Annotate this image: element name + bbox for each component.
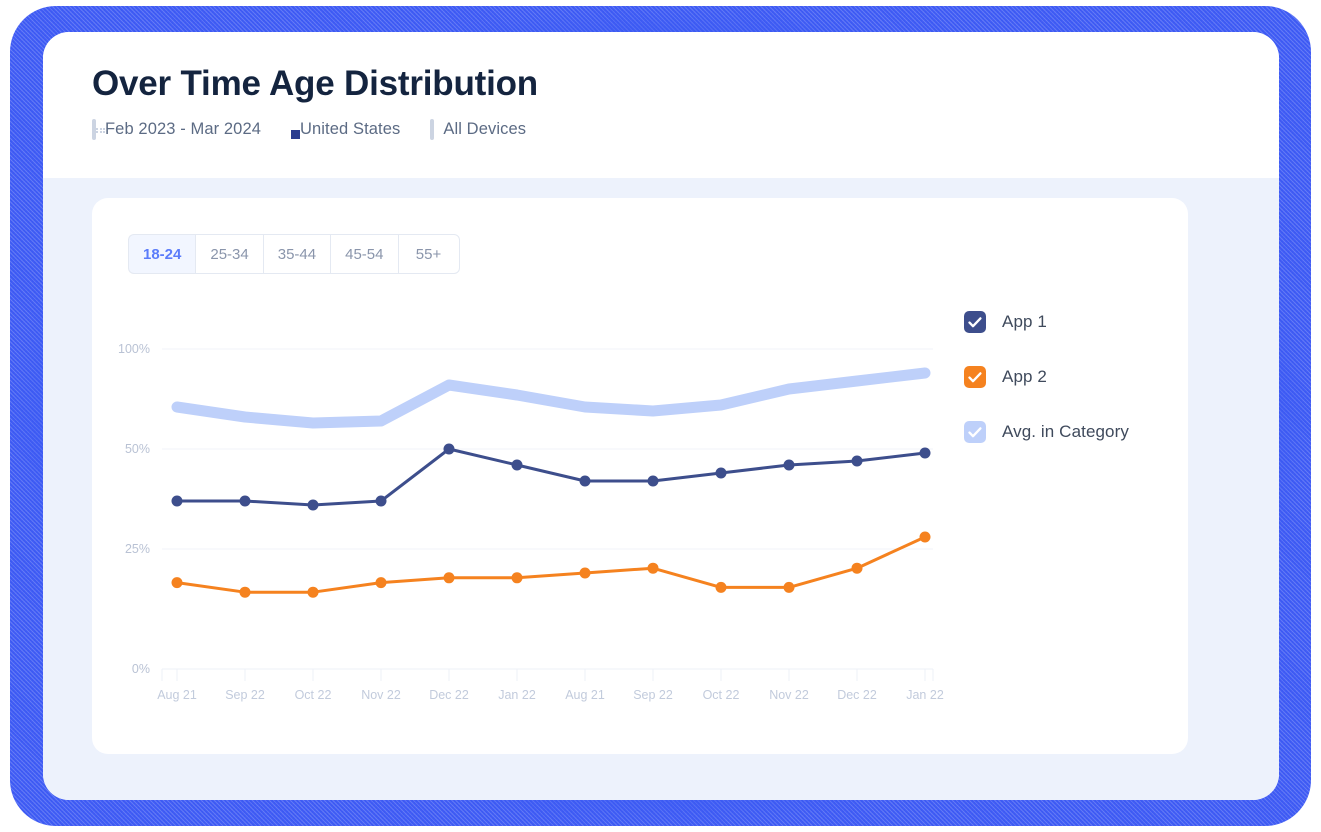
data-point[interactable] (172, 577, 183, 588)
x-axis-tick-label: Nov 22 (361, 688, 401, 702)
meta-country-label: United States (300, 120, 400, 139)
data-point[interactable] (784, 460, 795, 471)
legend-checkbox-app-2[interactable] (964, 366, 986, 388)
data-point[interactable] (512, 572, 523, 583)
legend-checkbox-avg-in-category[interactable] (964, 421, 986, 443)
series-line-app-2 (177, 537, 925, 592)
page-title: Over Time Age Distribution (92, 64, 1279, 104)
series-line-app-1 (177, 449, 925, 505)
x-axis-tick-label: Oct 22 (703, 688, 740, 702)
data-point[interactable] (852, 563, 863, 574)
x-axis-tick-label: Jan 22 (498, 688, 536, 702)
data-point[interactable] (580, 568, 591, 579)
y-axis-tick-label: 0% (132, 662, 150, 676)
series-line-avg-in-category (177, 373, 925, 423)
meta-country[interactable]: United States (291, 120, 400, 139)
x-axis-tick-label: Sep 22 (633, 688, 673, 702)
x-axis-tick-label: Nov 22 (769, 688, 809, 702)
meta-date-range-label: Feb 2023 - Mar 2024 (105, 120, 261, 139)
y-axis-tick-label: 25% (125, 542, 150, 556)
data-point[interactable] (240, 496, 251, 507)
x-axis-tick-label: Dec 22 (837, 688, 877, 702)
meta-row: Feb 2023 - Mar 2024 United States All De… (92, 120, 1279, 139)
data-point[interactable] (920, 448, 931, 459)
legend-item-app-2[interactable]: App 2 (964, 363, 1129, 391)
data-point[interactable] (444, 572, 455, 583)
app-frame: Over Time Age Distribution Feb 2023 - Ma… (0, 0, 1321, 832)
legend-label-app-1: App 1 (1002, 312, 1047, 332)
chart-legend: App 1 App 2 Avg. in Category (964, 308, 1129, 473)
legend-checkbox-app-1[interactable] (964, 311, 986, 333)
data-point[interactable] (648, 476, 659, 487)
data-point[interactable] (784, 582, 795, 593)
chart-card: 18-24 25-34 35-44 45-54 55+ 0%25%50%100%… (92, 198, 1188, 754)
data-point[interactable] (376, 577, 387, 588)
x-axis-tick-label: Aug 21 (565, 688, 605, 702)
data-point[interactable] (444, 444, 455, 455)
data-point[interactable] (716, 582, 727, 593)
x-axis-tick-label: Dec 22 (429, 688, 469, 702)
line-chart: 0%25%50%100%Aug 21Sep 22Oct 22Nov 22Dec … (92, 198, 1188, 754)
data-point[interactable] (240, 587, 251, 598)
legend-item-avg-in-category[interactable]: Avg. in Category (964, 418, 1129, 446)
data-point[interactable] (308, 500, 319, 511)
data-point[interactable] (308, 587, 319, 598)
legend-label-app-2: App 2 (1002, 367, 1047, 387)
x-axis-tick-label: Sep 22 (225, 688, 265, 702)
data-point[interactable] (172, 496, 183, 507)
legend-item-app-1[interactable]: App 1 (964, 308, 1129, 336)
x-axis-tick-label: Aug 21 (157, 688, 197, 702)
x-axis-tick-label: Jan 22 (906, 688, 944, 702)
data-point[interactable] (648, 563, 659, 574)
data-point[interactable] (512, 460, 523, 471)
x-axis-tick-label: Oct 22 (295, 688, 332, 702)
header: Over Time Age Distribution Feb 2023 - Ma… (43, 32, 1279, 178)
data-point[interactable] (852, 456, 863, 467)
chart-svg: 0%25%50%100%Aug 21Sep 22Oct 22Nov 22Dec … (92, 198, 1188, 754)
meta-devices[interactable]: All Devices (430, 120, 526, 139)
meta-devices-label: All Devices (443, 120, 526, 139)
meta-date-range[interactable]: Feb 2023 - Mar 2024 (92, 120, 261, 139)
data-point[interactable] (716, 468, 727, 479)
y-axis-tick-label: 50% (125, 442, 150, 456)
y-axis-tick-label: 100% (118, 342, 150, 356)
dashboard-window: Over Time Age Distribution Feb 2023 - Ma… (43, 32, 1279, 800)
data-point[interactable] (376, 496, 387, 507)
data-point[interactable] (920, 532, 931, 543)
data-point[interactable] (580, 476, 591, 487)
body-area: 18-24 25-34 35-44 45-54 55+ 0%25%50%100%… (43, 178, 1279, 800)
legend-label-avg: Avg. in Category (1002, 422, 1129, 442)
